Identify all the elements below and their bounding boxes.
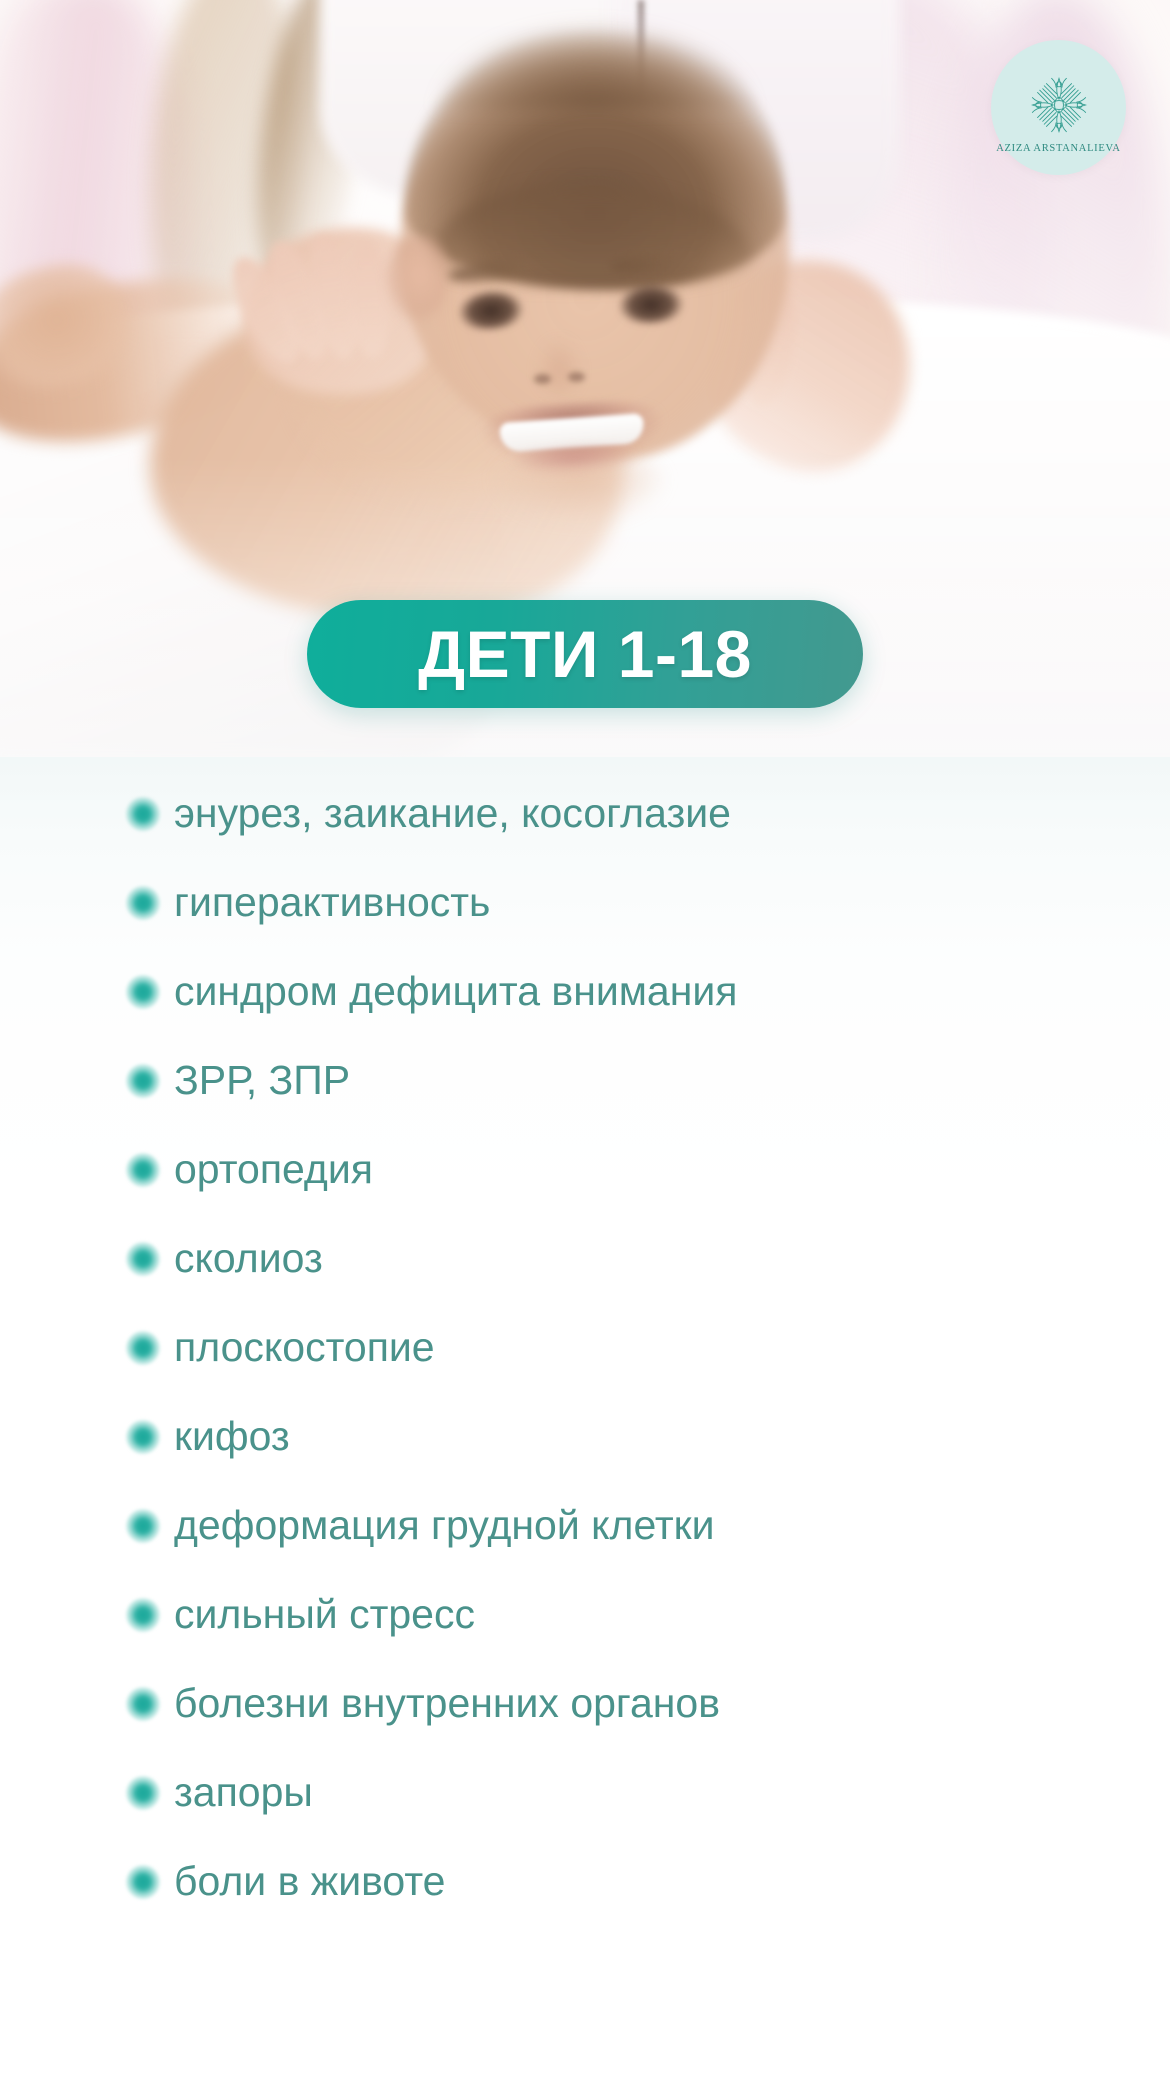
bullet-dot-icon [130, 1157, 156, 1183]
list-item-label: плоскостопие [174, 1326, 435, 1369]
bullet-dot-icon [130, 979, 156, 1005]
brand-logo: AZIZA ARSTANALIEVA [991, 40, 1126, 175]
conditions-list: энурез, заикание, косоглазиегиперактивно… [0, 769, 1170, 1926]
list-item: ЗРР, ЗПР [0, 1036, 1170, 1125]
title-badge: ДЕТИ 1-18 [307, 600, 863, 708]
list-item-label: синдром дефицита внимания [174, 970, 737, 1013]
bullet-dot-icon [130, 1780, 156, 1806]
child-ear [386, 236, 448, 322]
list-item-label: сколиоз [174, 1237, 323, 1280]
brand-name: AZIZA ARSTANALIEVA [996, 143, 1120, 154]
list-item: ортопедия [0, 1125, 1170, 1214]
list-item: боли в животе [0, 1837, 1170, 1926]
list-item: сколиоз [0, 1214, 1170, 1303]
child-nostril-right [568, 372, 585, 382]
title-badge-label: ДЕТИ 1-18 [418, 621, 752, 687]
child-nostril-left [534, 374, 551, 384]
list-item-label: болезни внутренних органов [174, 1682, 720, 1725]
list-item: энурез, заикание, косоглазие [0, 769, 1170, 858]
bullet-dot-icon [130, 1424, 156, 1450]
list-item: болезни внутренних органов [0, 1659, 1170, 1748]
list-item: деформация грудной клетки [0, 1481, 1170, 1570]
bullet-dot-icon [130, 801, 156, 827]
list-item-label: кифоз [174, 1415, 290, 1458]
bullet-dot-icon [130, 1691, 156, 1717]
poster-root: AZIZA ARSTANALIEVA ДЕТИ 1-18 энурез, заи… [0, 0, 1170, 2080]
bullet-dot-icon [130, 1513, 156, 1539]
list-item-label: боли в животе [174, 1860, 445, 1903]
child-hair-top [430, 18, 760, 110]
bullet-dot-icon [130, 1869, 156, 1895]
bullet-dot-icon [130, 890, 156, 916]
bullet-dot-icon [130, 1068, 156, 1094]
list-item-label: гиперактивность [174, 881, 490, 924]
list-item-label: деформация грудной клетки [174, 1504, 715, 1547]
list-item: запоры [0, 1748, 1170, 1837]
list-item: кифоз [0, 1392, 1170, 1481]
conditions-section: энурез, заикание, косоглазиегиперактивно… [0, 757, 1170, 2080]
list-item-label: ЗРР, ЗПР [174, 1059, 350, 1102]
list-item: плоскостопие [0, 1303, 1170, 1392]
list-item-label: сильный стресс [174, 1593, 475, 1636]
bullet-dot-icon [130, 1602, 156, 1628]
bullet-dot-icon [130, 1335, 156, 1361]
list-item-label: запоры [174, 1771, 313, 1814]
list-item: сильный стресс [0, 1570, 1170, 1659]
bullet-dot-icon [130, 1246, 156, 1272]
list-item-label: ортопедия [174, 1148, 373, 1191]
list-item-label: энурез, заикание, косоглазие [174, 792, 731, 835]
ornamental-cross-monogram-icon [1022, 68, 1096, 142]
list-item: синдром дефицита внимания [0, 947, 1170, 1036]
list-item: гиперактивность [0, 858, 1170, 947]
